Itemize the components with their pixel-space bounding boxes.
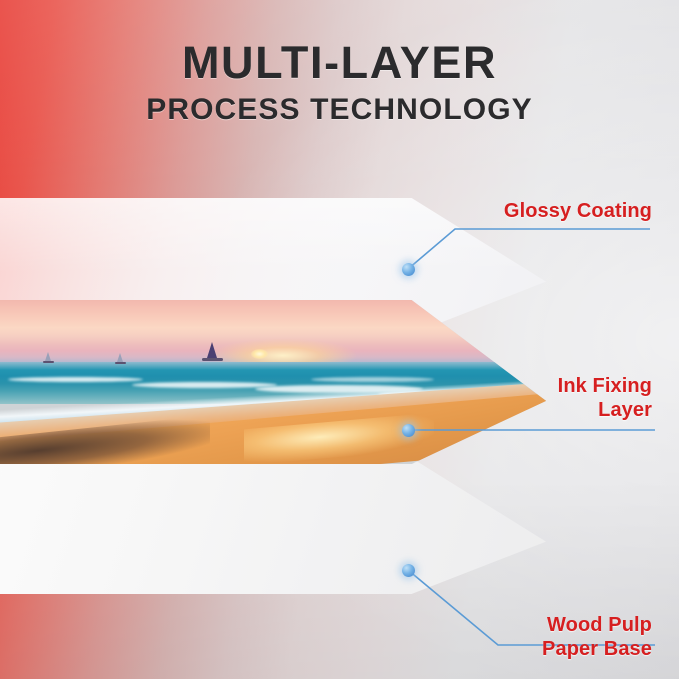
callout-label-glossy-coating: Glossy Coating: [470, 200, 652, 223]
layer-wood-pulp-paper-base[interactable]: [0, 458, 546, 594]
title-block: MULTI-LAYER PROCESS TECHNOLOGY: [0, 38, 679, 128]
infographic-canvas: MULTI-LAYER PROCESS TECHNOLOGY: [0, 0, 679, 679]
marker-dot-glossy-coating[interactable]: [402, 263, 415, 276]
callout-label-paper-base-line2: Paper Base: [450, 637, 652, 661]
marker-dot-ink-fixing[interactable]: [402, 424, 415, 437]
marker-dot-paper-base[interactable]: [402, 564, 415, 577]
wave-2: [132, 382, 278, 388]
callout-label-ink-fixing-line1: Ink Fixing: [455, 374, 652, 398]
callout-label-paper-base-line1: Wood Pulp: [450, 613, 652, 637]
callout-label-ink-fixing-line2: Layer: [455, 398, 652, 422]
paper-base-slab: [0, 458, 546, 594]
page-title: MULTI-LAYER: [0, 38, 679, 88]
callout-paper-base[interactable]: Wood Pulp Paper Base: [450, 613, 652, 661]
callout-ink-fixing[interactable]: Ink Fixing Layer: [455, 374, 652, 422]
page-subtitle: PROCESS TECHNOLOGY: [0, 92, 679, 128]
horizon-haze: [0, 362, 546, 370]
callout-glossy-coating[interactable]: Glossy Coating: [470, 200, 652, 223]
